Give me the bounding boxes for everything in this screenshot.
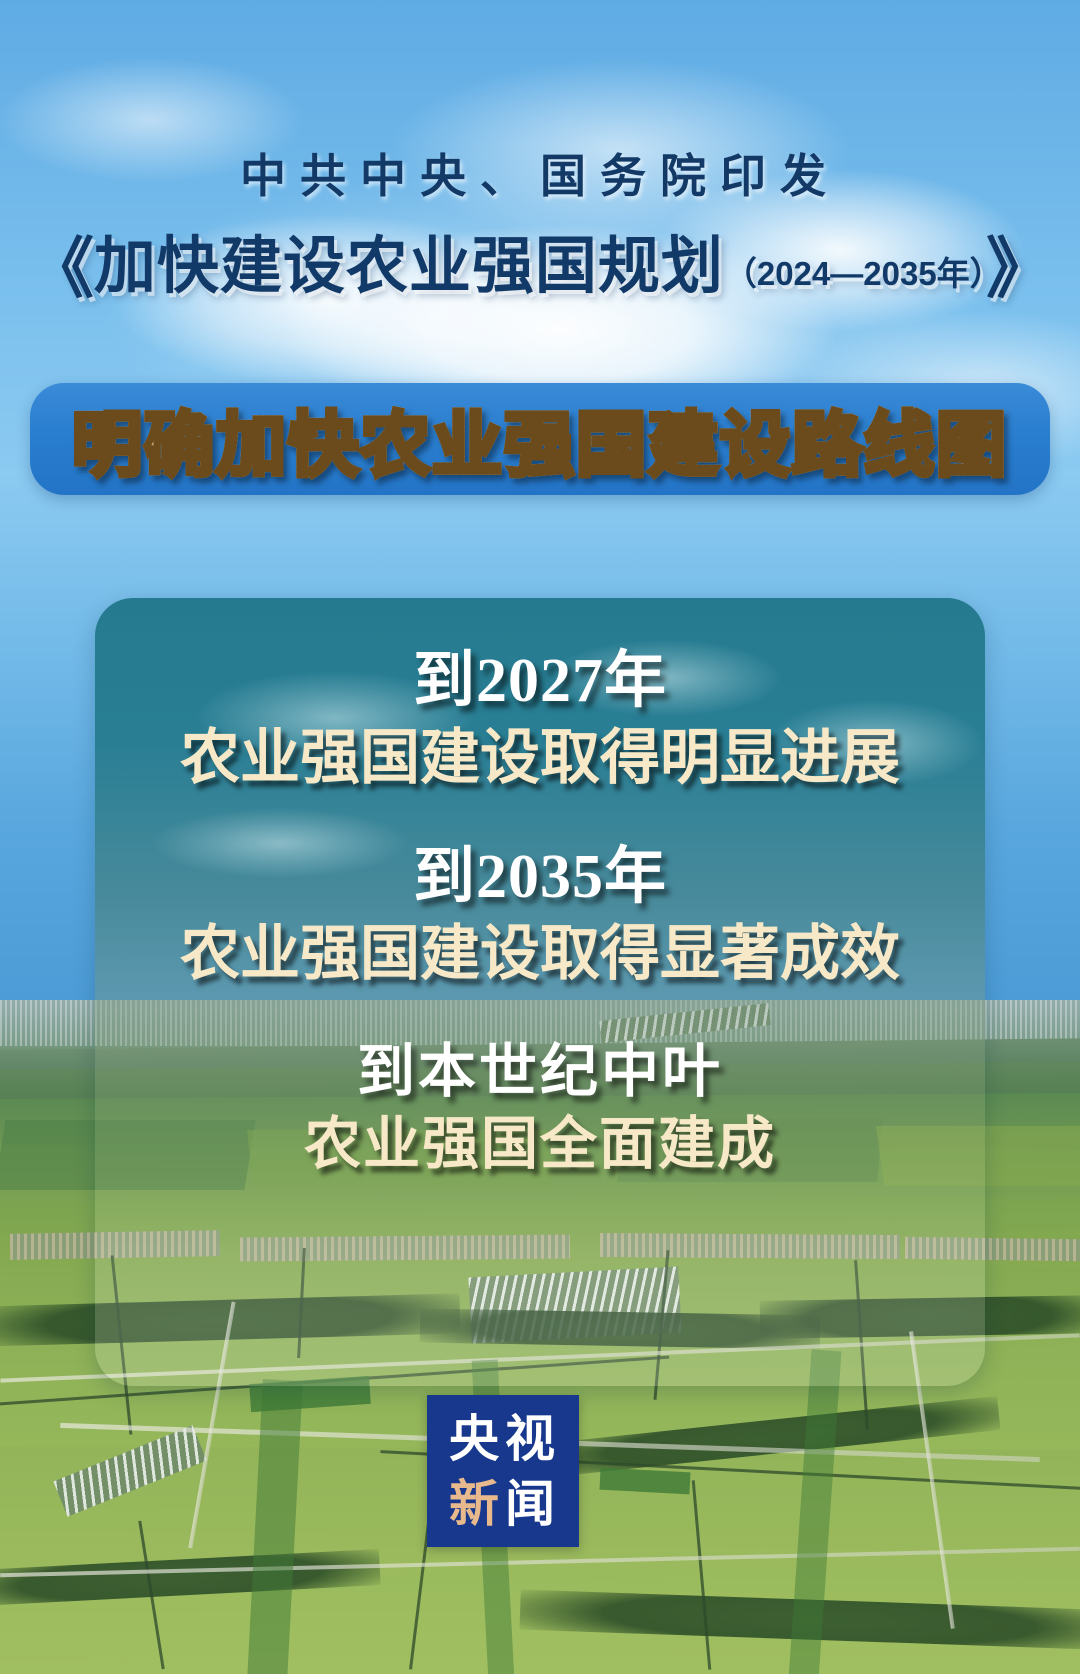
milestone-year-label: 到2035年 [95, 840, 985, 916]
milestone-2027: 到2027年 农业强国建设取得明显进展 [95, 644, 985, 796]
logo-char-shi: 视 [505, 1414, 557, 1464]
headline-banner: 明确加快农业强国建设路线图 [30, 383, 1050, 495]
title-year-range: （2024—2035年） [724, 255, 986, 292]
page-title: 《加快建设农业强国规划（2024—2035年）》 [0, 215, 1080, 311]
logo-line-2: 新闻 [449, 1479, 557, 1539]
roadmap-milestone-list: 到2027年 农业强国建设取得明显进展 到2035年 农业强国建设取得显著成效 … [95, 598, 985, 1386]
logo-line-1: 央视 [449, 1402, 557, 1464]
milestone-mid-century: 到本世纪中叶 农业强国全面建成 [95, 1037, 985, 1181]
title-open-bracket: 《 [28, 230, 94, 307]
title-plan-name: 加快建设农业强国规划 [94, 232, 724, 301]
logo-char-xin: 新 [449, 1479, 501, 1529]
page-kicker: 中共中央、国务院印发 [0, 140, 1080, 206]
milestone-achievement: 农业强国建设取得显著成效 [95, 916, 985, 993]
milestone-achievement: 农业强国全面建成 [95, 1108, 985, 1181]
cctv-news-logo[interactable]: 央视 新闻 [427, 1395, 579, 1547]
headline-banner-text: 明确加快农业强国建设路线图 [72, 389, 1008, 490]
green-crop-strip [599, 1468, 690, 1495]
milestone-year-label: 到本世纪中叶 [95, 1037, 985, 1108]
milestone-year-label: 到2027年 [95, 644, 985, 720]
poster-root: 中共中央、国务院印发 《加快建设农业强国规划（2024—2035年）》 明确加快… [0, 0, 1080, 1674]
milestone-2035: 到2035年 农业强国建设取得显著成效 [95, 840, 985, 992]
logo-char-yang: 央 [449, 1414, 501, 1464]
milestone-achievement: 农业强国建设取得明显进展 [95, 720, 985, 797]
title-close-bracket: 》 [986, 230, 1052, 307]
logo-char-wen: 闻 [505, 1479, 557, 1529]
